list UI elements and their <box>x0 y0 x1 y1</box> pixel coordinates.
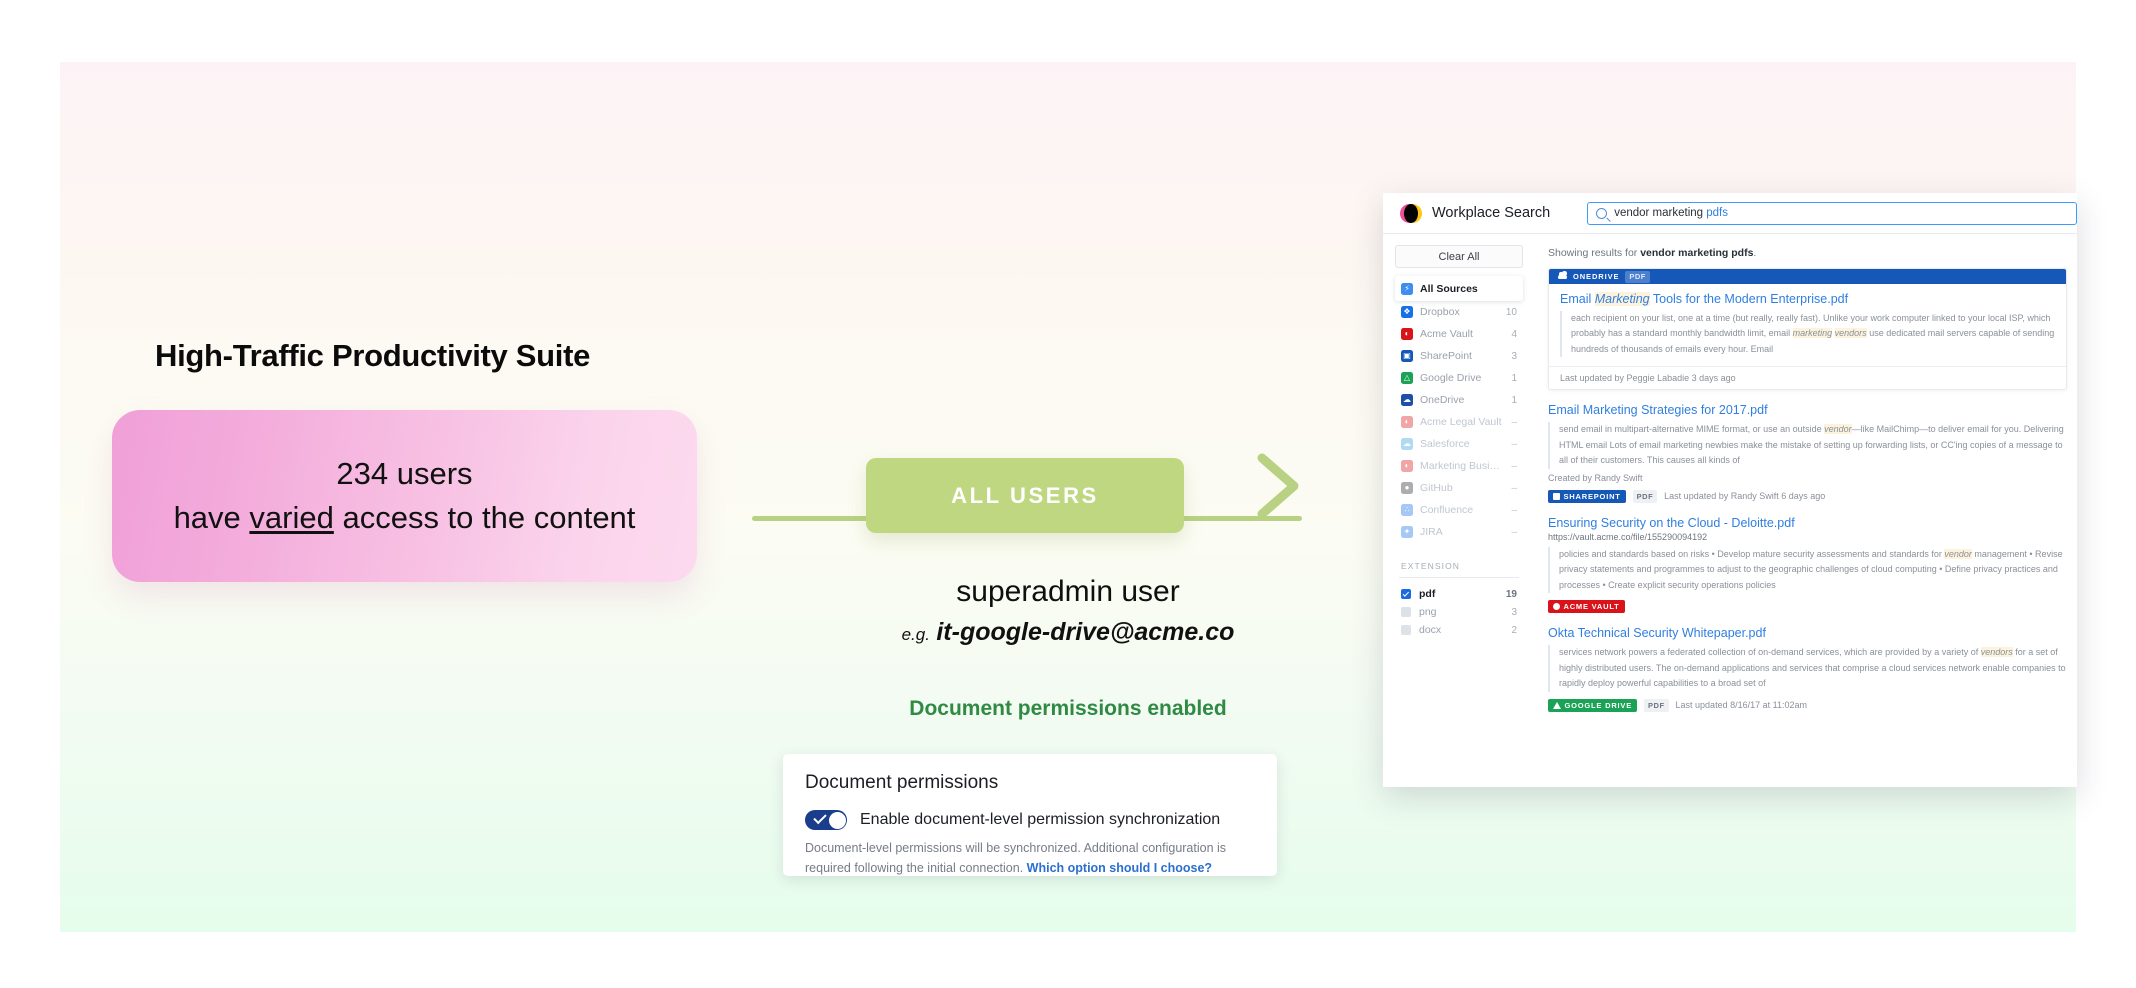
search-value-highlight: pdfs <box>1706 207 1728 219</box>
result-title[interactable]: Okta Technical Security Whitepaper.pdf <box>1548 626 2067 640</box>
source-filter-onedrive[interactable]: ☁OneDrive1 <box>1395 389 1523 411</box>
permission-sync-toggle[interactable] <box>805 810 847 830</box>
extension-filter-docx[interactable]: docx2 <box>1395 621 1523 639</box>
source-filter-count: – <box>1511 483 1517 494</box>
search-results-panel: Showing results for vendor marketing pdf… <box>1535 234 2077 787</box>
acme-vault-icon: ◐ <box>1401 416 1413 428</box>
extension-label: png <box>1419 606 1503 618</box>
permissions-card-title: Document permissions <box>805 772 1255 794</box>
results-summary-pre: Showing results for <box>1548 247 1640 259</box>
google-drive-icon <box>1553 702 1561 709</box>
search-input[interactable]: vendor marketing pdfs <box>1587 202 2077 225</box>
result-meta: SHAREPOINTPDFLast updated by Randy Swift… <box>1548 490 2067 503</box>
result-title[interactable]: Email Marketing Strategies for 2017.pdf <box>1548 403 2067 417</box>
app-header: Workplace Search vendor marketing pdfs <box>1383 193 2077 234</box>
access-pre: have <box>174 500 250 535</box>
acme-vault-icon: ◐ <box>1401 328 1413 340</box>
result-body: Ensuring Security on the Cloud - Deloitt… <box>1548 516 2067 613</box>
app-title: Workplace Search <box>1432 205 1550 221</box>
search-result-item[interactable]: Okta Technical Security Whitepaper.pdfse… <box>1548 626 2067 711</box>
description-text: send email in multipart-alternative MIME… <box>1559 424 1824 434</box>
source-filter-label: Marketing Business Re… <box>1420 460 1504 472</box>
source-filter-count: – <box>1511 527 1517 538</box>
result-body: Okta Technical Security Whitepaper.pdfse… <box>1548 626 2067 711</box>
user-count-line: 234 users <box>336 452 472 496</box>
result-description: services network powers a federated coll… <box>1548 645 2067 691</box>
source-filter-count: 3 <box>1511 351 1517 362</box>
search-result-item[interactable]: Email Marketing Strategies for 2017.pdfs… <box>1548 403 2067 502</box>
extension-label: docx <box>1419 624 1503 636</box>
extension-filter-png[interactable]: png3 <box>1395 603 1523 621</box>
google-drive-icon: △ <box>1401 372 1413 384</box>
result-description: each recipient on your list, one at a ti… <box>1560 311 2055 357</box>
result-title[interactable]: Email Marketing Tools for the Modern Ent… <box>1560 292 2055 306</box>
github-icon: ● <box>1401 482 1413 494</box>
source-filter-github[interactable]: ●GitHub– <box>1395 477 1523 499</box>
source-filter-label: Acme Legal Vault <box>1420 416 1504 428</box>
workplace-search-window: Workplace Search vendor marketing pdfs C… <box>1383 193 2077 787</box>
result-filetype-tag: PDF <box>1625 271 1650 283</box>
source-filter-label: All Sources <box>1420 283 1510 295</box>
source-filter-label: Confluence <box>1420 504 1504 516</box>
result-source-name: ONEDRIVE <box>1573 272 1619 281</box>
app-body: Clear All ⚡All Sources❖Dropbox10◐Acme Va… <box>1383 234 2077 787</box>
source-filter-label: OneDrive <box>1420 394 1504 406</box>
source-filter-dropbox[interactable]: ❖Dropbox10 <box>1395 301 1523 323</box>
search-result-item[interactable]: ONEDRIVEPDFEmail Marketing Tools for the… <box>1548 268 2067 390</box>
source-filter-label: GitHub <box>1420 482 1504 494</box>
sharepoint-icon: ▣ <box>1401 350 1413 362</box>
result-meta: ACME VAULT <box>1548 600 2067 613</box>
source-filter-count: 1 <box>1511 395 1517 406</box>
search-value-plain: vendor marketing <box>1614 207 1706 219</box>
highlight-term: marketing <box>1793 328 1833 338</box>
acme-vault-icon <box>1553 603 1560 610</box>
result-source-chip-label: GOOGLE DRIVE <box>1565 701 1633 710</box>
jira-icon: ✦ <box>1401 526 1413 538</box>
highlight-term: vendor <box>1824 424 1852 434</box>
checkbox-png[interactable] <box>1401 607 1411 617</box>
check-icon <box>813 811 826 824</box>
results-summary-post: . <box>1753 247 1756 259</box>
highlight-term: vendor <box>1944 549 1972 559</box>
salesforce-icon: ☁ <box>1401 438 1413 450</box>
source-filter-sharepoint[interactable]: ▣SharePoint3 <box>1395 345 1523 367</box>
source-filter-label: Google Drive <box>1420 372 1504 384</box>
highlight-term: vendors <box>1981 647 2013 657</box>
source-filter-label: JIRA <box>1420 526 1504 538</box>
all-users-badge-label: ALL USERS <box>951 483 1099 509</box>
result-source-bar: ONEDRIVEPDF <box>1549 269 2066 284</box>
highlight-term: vendors <box>1835 328 1867 338</box>
toggle-knob <box>829 812 846 829</box>
source-filter-acme-legal-vault[interactable]: ◐Acme Legal Vault– <box>1395 411 1523 433</box>
source-filter-google-drive[interactable]: △Google Drive1 <box>1395 367 1523 389</box>
source-filter-label: SharePoint <box>1420 350 1504 362</box>
extension-count: 19 <box>1506 589 1517 600</box>
confluence-icon: ∴ <box>1401 504 1413 516</box>
description-text: policies and standards based on risks • … <box>1559 549 1944 559</box>
source-filter-count: – <box>1511 461 1517 472</box>
results-summary-query: vendor marketing pdfs <box>1640 247 1753 259</box>
example-prefix: e.g. <box>902 625 930 644</box>
source-filter-count: – <box>1511 439 1517 450</box>
sharepoint-icon <box>1553 493 1560 500</box>
result-filetype-tag: PDF <box>1644 699 1669 712</box>
result-source-chip-label: ACME VAULT <box>1564 602 1620 611</box>
permission-toggle-label: Enable document-level permission synchro… <box>860 811 1220 829</box>
extension-count: 3 <box>1511 607 1517 618</box>
source-filter-label: Salesforce <box>1420 438 1504 450</box>
bolt-icon: ⚡ <box>1401 283 1413 295</box>
result-title[interactable]: Ensuring Security on the Cloud - Deloitt… <box>1548 516 2067 530</box>
search-input-value: vendor marketing pdfs <box>1614 207 1728 219</box>
dropbox-icon: ❖ <box>1401 306 1413 318</box>
source-filter-all-sources[interactable]: ⚡All Sources <box>1395 276 1523 301</box>
result-created-by: Created by Randy Swift <box>1548 473 2067 483</box>
workplace-search-logo-icon <box>1400 204 1422 223</box>
source-filter-acme-vault[interactable]: ◐Acme Vault4 <box>1395 323 1523 345</box>
result-body: Email Marketing Tools for the Modern Ent… <box>1549 284 2066 366</box>
source-filter-salesforce[interactable]: ☁Salesforce– <box>1395 433 1523 455</box>
result-updated-text: Last updated by Randy Swift 6 days ago <box>1664 491 1825 501</box>
acme-vault-icon: ◐ <box>1401 460 1413 472</box>
all-users-badge: ALL USERS <box>866 458 1184 533</box>
result-description: send email in multipart-alternative MIME… <box>1548 422 2067 468</box>
divider <box>1399 577 1519 578</box>
source-filter-count: 4 <box>1511 329 1517 340</box>
extension-count: 2 <box>1511 625 1517 636</box>
checkbox-docx[interactable] <box>1401 625 1411 635</box>
clear-all-button[interactable]: Clear All <box>1395 245 1523 268</box>
source-filter-marketing-business-re[interactable]: ◐Marketing Business Re…– <box>1395 455 1523 477</box>
source-filter-confluence[interactable]: ∴Confluence– <box>1395 499 1523 521</box>
access-post: access to the content <box>334 500 636 535</box>
source-filter-count: – <box>1511 417 1517 428</box>
source-filter-jira[interactable]: ✦JIRA– <box>1395 521 1523 543</box>
extension-filter-header: EXTENSION <box>1395 561 1523 571</box>
onedrive-icon: ☁ <box>1401 394 1413 406</box>
result-meta: GOOGLE DRIVEPDFLast updated 8/16/17 at 1… <box>1548 699 2067 712</box>
permission-toggle-row[interactable]: Enable document-level permission synchro… <box>805 810 1255 830</box>
filters-sidebar: Clear All ⚡All Sources❖Dropbox10◐Acme Va… <box>1383 234 1535 787</box>
result-url: https://vault.acme.co/file/155290094192 <box>1548 532 2067 542</box>
which-option-link[interactable]: Which option should I choose? <box>1027 861 1212 875</box>
source-filter-label: Dropbox <box>1420 306 1499 318</box>
source-filter-count: – <box>1511 505 1517 516</box>
permissions-description: Document-level permissions will be synch… <box>805 839 1255 879</box>
source-filter-list: ⚡All Sources❖Dropbox10◐Acme Vault4▣Share… <box>1395 276 1523 543</box>
result-description: policies and standards based on risks • … <box>1548 547 2067 593</box>
extension-filter-list: pdf19png3docx2 <box>1395 585 1523 639</box>
page-title: High-Traffic Productivity Suite <box>155 338 590 374</box>
result-source-chip: ACME VAULT <box>1548 600 1625 613</box>
search-icon <box>1596 208 1607 219</box>
results-summary: Showing results for vendor marketing pdf… <box>1548 247 2067 259</box>
checkbox-pdf[interactable] <box>1401 589 1411 599</box>
result-list: ONEDRIVEPDFEmail Marketing Tools for the… <box>1548 268 2067 712</box>
result-filetype-tag: PDF <box>1633 490 1658 503</box>
extension-filter-pdf[interactable]: pdf19 <box>1395 585 1523 603</box>
source-filter-label: Acme Vault <box>1420 328 1504 340</box>
access-description-line: have varied access to the content <box>174 496 636 540</box>
user-access-card: 234 users have varied access to the cont… <box>112 410 697 582</box>
arrow-head-icon <box>1256 452 1304 520</box>
access-emphasis: varied <box>249 500 333 535</box>
document-permissions-card: Document permissions Enable document-lev… <box>783 754 1277 876</box>
extension-label: pdf <box>1419 588 1498 600</box>
result-footer: Last updated by Peggie Labadie 3 days ag… <box>1549 366 2066 389</box>
title-highlight: Marketing <box>1595 292 1650 306</box>
source-filter-count: 10 <box>1506 307 1517 318</box>
result-source-chip: GOOGLE DRIVE <box>1548 699 1637 712</box>
result-source-chip-label: SHAREPOINT <box>1564 492 1621 501</box>
result-body: Email Marketing Strategies for 2017.pdfs… <box>1548 403 2067 502</box>
cloud-icon <box>1558 274 1567 279</box>
example-email: it-google-drive@acme.co <box>936 618 1234 646</box>
result-updated-text: Last updated 8/16/17 at 11:02am <box>1676 700 1807 710</box>
description-text: services network powers a federated coll… <box>1559 647 1981 657</box>
search-result-item[interactable]: Ensuring Security on the Cloud - Deloitt… <box>1548 516 2067 613</box>
result-source-chip: SHAREPOINT <box>1548 490 1626 503</box>
source-filter-count: 1 <box>1511 373 1517 384</box>
